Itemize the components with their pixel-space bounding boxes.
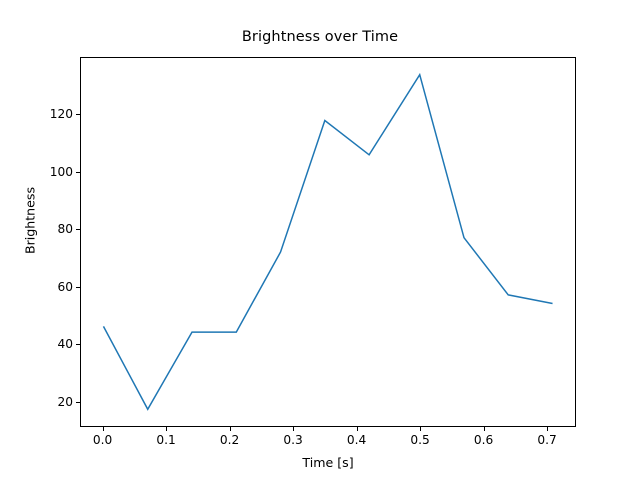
x-tick-label: 0.5 (410, 433, 429, 447)
y-tick-mark (76, 287, 80, 288)
y-tick-mark (76, 229, 80, 230)
x-tick-mark (420, 427, 421, 431)
y-tick-mark (76, 402, 80, 403)
y-tick-label: 60 (32, 280, 73, 294)
y-tick-label: 80 (32, 222, 73, 236)
x-tick-label: 0.7 (537, 433, 556, 447)
x-tick-label: 0.1 (156, 433, 175, 447)
x-tick-mark (293, 427, 294, 431)
y-tick-label: 100 (32, 165, 73, 179)
x-tick-mark (484, 427, 485, 431)
x-tick-label: 0.6 (474, 433, 493, 447)
plot-axes-area (80, 57, 576, 427)
figure-canvas: Brightness over Time 0.00.10.20.30.40.50… (0, 0, 640, 480)
x-tick-label: 0.4 (347, 433, 366, 447)
y-tick-label: 20 (32, 395, 73, 409)
y-tick-label: 120 (32, 107, 73, 121)
x-tick-mark (103, 427, 104, 431)
y-tick-mark (76, 172, 80, 173)
x-tick-mark (547, 427, 548, 431)
brightness-data-line (103, 75, 552, 410)
x-axis-label: Time [s] (80, 455, 576, 470)
x-tick-mark (230, 427, 231, 431)
x-tick-mark (166, 427, 167, 431)
y-tick-mark (76, 344, 80, 345)
y-tick-mark (76, 114, 80, 115)
x-tick-label: 0.3 (283, 433, 302, 447)
y-axis-label: Brightness (23, 161, 38, 281)
x-tick-label: 0.0 (93, 433, 112, 447)
chart-title: Brightness over Time (0, 29, 640, 45)
y-tick-label: 40 (32, 337, 73, 351)
x-tick-mark (357, 427, 358, 431)
line-plot-svg (81, 58, 575, 426)
x-tick-label: 0.2 (220, 433, 239, 447)
